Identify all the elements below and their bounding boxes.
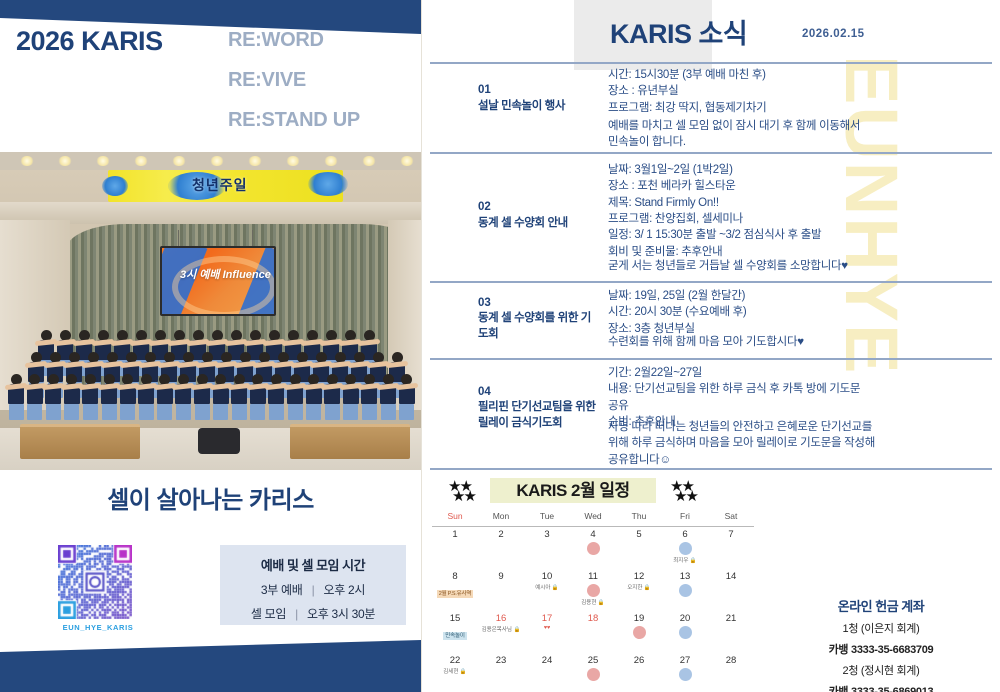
item-body: 날짜: 3월1일~2일 (1박2일) 장소 : 포천 베라카 힐스타운 제목: … <box>608 162 980 260</box>
calendar-day-cell[interactable]: 23 <box>478 653 524 692</box>
screen-text: 3시 예배 Influence <box>180 266 271 282</box>
service-time-sep: | <box>312 583 315 597</box>
calendar-day-cell[interactable]: 82월 P.S.유사역 <box>432 569 478 611</box>
calendar-day-number: 12 <box>617 572 661 582</box>
ceiling-light-icon <box>172 156 186 166</box>
calendar-grid: SunMonTueWedThuFriSat 123456최지우 🔒782월 P.… <box>432 508 754 692</box>
photo-person <box>138 374 154 420</box>
photo-person <box>175 374 191 420</box>
calendar-day-cell[interactable]: 9 <box>478 569 524 611</box>
calendar-body: 123456최지우 🔒782월 P.S.유사역910예시아 🔒11김용현 🔒12… <box>432 527 754 692</box>
calendar-day-cell[interactable]: 28 <box>708 653 754 692</box>
item-title: 설날 민속놀이 행사 <box>478 99 598 115</box>
calendar-weekday-wed: Wed <box>570 508 616 527</box>
ceiling-light-icon <box>210 156 224 166</box>
item-title: 필리핀 단기선교팀을 위한 릴레이 금식기도회 <box>478 400 598 431</box>
item-number: 02 <box>478 201 491 213</box>
ceiling-light-icon <box>20 156 34 166</box>
calendar-day-cell[interactable]: 11김용현 🔒 <box>570 569 616 611</box>
calendar-day-number: 18 <box>571 614 615 624</box>
calendar-weekday-thu: Thu <box>616 508 662 527</box>
calendar-day-number: 17 <box>525 614 569 624</box>
calendar-day-number: 9 <box>479 572 523 582</box>
account-line-1: 카뱅 3333-35-6683709 <box>762 641 1000 657</box>
calendar-day-cell[interactable]: 1 <box>432 527 478 570</box>
qr-label: EUN_HYE_KARIS <box>58 623 138 632</box>
calendar-day-name: 김용은목사님 🔒 <box>479 625 523 633</box>
account-title: 온라인 헌금 계좌 <box>762 596 1000 615</box>
photo-person <box>101 374 117 420</box>
photo-person <box>361 374 377 420</box>
photo-person <box>250 374 266 420</box>
service-time-label: 3부 예배 <box>261 583 303 597</box>
service-time-row: 3부 예배 | 오후 2시 <box>220 581 406 598</box>
account-line-2: 2청 (정시현 회계) <box>762 662 1000 678</box>
item-body: 날짜: 19일, 25일 (2월 한달간) 시간: 20시 30분 (수요예배 … <box>608 288 980 337</box>
divider-line <box>430 281 992 283</box>
calendar-day-cell[interactable]: 4 <box>570 527 616 570</box>
calendar-day-number: 11 <box>571 572 615 582</box>
item-note: 예배를 마치고 셀 모임 없이 잠시 대기 후 함께 이동해서 민속놀이 합니다… <box>608 118 980 151</box>
calendar-week-row: 22김세현 🔒232425262728 <box>432 653 754 692</box>
qr-code[interactable] <box>58 545 132 619</box>
calendar-day-number: 15 <box>433 614 477 624</box>
calendar-dot-blue-icon <box>679 584 692 597</box>
screen-ring <box>172 256 276 316</box>
photo-person <box>231 374 247 420</box>
donation-account-block: 온라인 헌금 계좌 1청 (이은지 회계) 카뱅 3333-35-6683709… <box>762 596 1000 692</box>
banner-blob <box>102 176 128 196</box>
calendar-day-cell[interactable]: 26 <box>616 653 662 692</box>
calendar-day-cell[interactable]: 24 <box>524 653 570 692</box>
photo-person <box>380 374 396 420</box>
calendar-day-cell[interactable]: 14 <box>708 569 754 611</box>
calendar-title: KARIS 2월 일정 <box>490 478 656 503</box>
calendar-dot-blue-icon <box>679 668 692 681</box>
photo-person <box>287 374 303 420</box>
photo-bag <box>198 428 240 454</box>
calendar-dot-pink-icon <box>587 668 600 681</box>
calendar-day-number: 21 <box>709 614 753 624</box>
calendar-day-name: 김용현 🔒 <box>571 598 615 606</box>
photo-person <box>194 374 210 420</box>
calendar-day-number: 20 <box>663 614 707 624</box>
re-slogan-1: RE:VIVE <box>228 70 360 90</box>
calendar-dot-pink-icon <box>587 542 600 555</box>
photo-person <box>213 374 229 420</box>
calendar-week-row: 123456최지우 🔒7 <box>432 527 754 570</box>
item-title: 동계 셀 수양회 안내 <box>478 216 598 232</box>
calendar-day-cell[interactable]: 15민속놀이 <box>432 611 478 653</box>
account-line-3: 카뱅 3333-35-6869013 <box>762 683 1000 692</box>
calendar-day-number: 27 <box>663 656 707 666</box>
calendar-day-cell[interactable]: 20 <box>662 611 708 653</box>
item-number: 04 <box>478 386 491 398</box>
calendar-day-name: 오지한 🔒 <box>617 583 661 591</box>
calendar-day-number: 13 <box>663 572 707 582</box>
calendar-day-number: 19 <box>617 614 661 624</box>
star-decoration-left-icon: ★★★★ <box>448 480 475 503</box>
news-date: 2026.02.15 <box>802 28 865 40</box>
divider-line <box>430 468 992 470</box>
ceiling-light-icon <box>362 156 376 166</box>
photo-pew-right <box>290 424 410 459</box>
item-note: 사명 따라 떠나는 청년들의 안전하고 은혜로운 단기선교를 위해 하루 금식하… <box>608 419 980 468</box>
ceiling-light-icon <box>134 156 148 166</box>
divider-line <box>430 358 992 360</box>
calendar-day-number: 2 <box>479 530 523 540</box>
tagline: 셀이 살아나는 카리스 <box>0 480 421 515</box>
calendar-dot-blue-icon <box>679 542 692 555</box>
photo-person <box>306 374 322 420</box>
calendar-dot-blue-icon <box>679 626 692 639</box>
calendar-weekday-sun: Sun <box>432 508 478 527</box>
calendar-day-number: 10 <box>525 572 569 582</box>
calendar-week-row: 82월 P.S.유사역910예시아 🔒11김용현 🔒12오지한 🔒1314 <box>432 569 754 611</box>
news-title: KARIS 소식 <box>610 12 747 51</box>
banner-blob <box>308 172 348 196</box>
photo-ceiling-lights <box>0 156 421 168</box>
calendar-day-cell[interactable]: 27 <box>662 653 708 692</box>
service-time-sep: | <box>295 607 298 621</box>
calendar-weekday-sat: Sat <box>708 508 754 527</box>
ceiling-light-icon <box>96 156 110 166</box>
calendar-day-number: 3 <box>525 530 569 540</box>
calendar-day-cell[interactable]: 7 <box>708 527 754 570</box>
calendar-day-number: 4 <box>571 530 615 540</box>
calendar-day-cell[interactable]: 18 <box>570 611 616 653</box>
photo-person <box>399 374 415 420</box>
photo-person <box>82 374 98 420</box>
service-time-value: 오후 2시 <box>323 583 365 597</box>
calendar-day-number: 26 <box>617 656 661 666</box>
item-note: 굳게 서는 청년들로 거듭날 셀 수양회를 소망합니다♥ <box>608 258 980 274</box>
calendar-day-cell[interactable]: 13 <box>662 569 708 611</box>
ceiling-light-icon <box>400 156 414 166</box>
ceiling-light-icon <box>286 156 300 166</box>
photo-person <box>324 374 340 420</box>
star-decoration-right-icon: ★★★★ <box>670 480 697 503</box>
calendar-day-number: 23 <box>479 656 523 666</box>
ceiling-light-icon <box>324 156 338 166</box>
calendar-day-tag: ♥♥ <box>525 625 569 631</box>
right-panel: EUNHYE KARIS 소식 2026.02.15 01 설날 민속놀이 행사… <box>422 0 1000 692</box>
calendar-day-cell[interactable]: 25 <box>570 653 616 692</box>
calendar-week-row: 15민속놀이16김용은목사님 🔒17♥♥18192021 <box>432 611 754 653</box>
photo-person <box>27 374 43 420</box>
calendar-day-number: 16 <box>479 614 523 624</box>
photo-person <box>343 374 359 420</box>
photo-banner: 청년주일 <box>108 170 343 202</box>
calendar-header: ★★★★ KARIS 2월 일정 ★★★★ <box>432 478 754 506</box>
photo-person <box>268 374 284 420</box>
photo-person <box>45 374 61 420</box>
calendar-day-cell[interactable]: 3 <box>524 527 570 570</box>
re-slogan-list: RE:WORD RE:VIVE RE:STAND UP <box>228 30 360 150</box>
calendar-day-name: 김세현 🔒 <box>433 667 477 675</box>
brand-title: 2026 KARIS <box>16 26 163 57</box>
calendar-day-cell[interactable]: 2 <box>478 527 524 570</box>
flyer-page: 2026 KARIS RE:WORD RE:VIVE RE:STAND UP 청… <box>0 0 1000 692</box>
calendar-dot-pink-icon <box>587 584 600 597</box>
calendar-day-cell[interactable]: 22김세현 🔒 <box>432 653 478 692</box>
navy-bottom-bar <box>0 655 400 692</box>
service-time-box: 예배 및 셀 모임 시간 3부 예배 | 오후 2시 셀 모임 | 오후 3시 … <box>220 545 406 625</box>
calendar-day-cell[interactable]: 10예시아 🔒 <box>524 569 570 611</box>
calendar: ★★★★ KARIS 2월 일정 ★★★★ SunMonTueWedThuFri… <box>432 478 754 692</box>
service-time-row: 셀 모임 | 오후 3시 30분 <box>220 605 406 622</box>
photo-person <box>8 374 24 420</box>
calendar-day-number: 25 <box>571 656 615 666</box>
calendar-day-name: 예시아 🔒 <box>525 583 569 591</box>
calendar-day-number: 8 <box>433 572 477 582</box>
item-body: 시간: 15시30분 (3부 예배 마친 후) 장소 : 유년부실 프로그램: … <box>608 67 980 116</box>
divider-line <box>430 152 992 154</box>
calendar-weekday-mon: Mon <box>478 508 524 527</box>
calendar-day-cell[interactable]: 5 <box>616 527 662 570</box>
service-time-value: 오후 3시 30분 <box>307 607 375 621</box>
calendar-day-cell[interactable]: 12오지한 🔒 <box>616 569 662 611</box>
calendar-day-number: 6 <box>663 530 707 540</box>
calendar-day-cell[interactable]: 17♥♥ <box>524 611 570 653</box>
divider-line <box>430 62 992 64</box>
calendar-dot-pink-icon <box>633 626 646 639</box>
ceiling-light-icon <box>58 156 72 166</box>
item-title: 동계 셀 수양회를 위한 기도회 <box>478 311 598 342</box>
account-line-0: 1청 (이은지 회계) <box>762 620 1000 636</box>
calendar-day-number: 24 <box>525 656 569 666</box>
item-number: 01 <box>478 84 491 96</box>
group-photo: 청년주일 3시 예배 Influence <box>0 152 421 470</box>
service-time-title: 예배 및 셀 모임 시간 <box>220 555 406 574</box>
photo-person <box>120 374 136 420</box>
calendar-weekday-tue: Tue <box>524 508 570 527</box>
calendar-day-tag: 민속놀이 <box>443 632 466 640</box>
calendar-day-number: 1 <box>433 530 477 540</box>
calendar-weekday-row: SunMonTueWedThuFriSat <box>432 508 754 527</box>
calendar-day-cell[interactable]: 19 <box>616 611 662 653</box>
calendar-day-number: 14 <box>709 572 753 582</box>
re-slogan-2: RE:STAND UP <box>228 110 360 130</box>
item-number: 03 <box>478 297 491 309</box>
photo-person <box>157 374 173 420</box>
banner-text: 청년주일 <box>192 175 248 195</box>
calendar-day-cell[interactable]: 6최지우 🔒 <box>662 527 708 570</box>
calendar-day-number: 5 <box>617 530 661 540</box>
service-time-label: 셀 모임 <box>251 607 286 621</box>
qr-block[interactable]: EUN_HYE_KARIS <box>58 545 138 632</box>
item-note: 수련회를 위해 함께 마음 모아 기도합시다♥ <box>608 334 980 350</box>
photo-person <box>64 374 80 420</box>
calendar-day-tag: 2월 P.S.유사역 <box>437 590 474 598</box>
ceiling-light-icon <box>248 156 262 166</box>
calendar-day-number: 22 <box>433 656 477 666</box>
calendar-day-cell[interactable]: 21 <box>708 611 754 653</box>
calendar-weekday-fri: Fri <box>662 508 708 527</box>
re-slogan-0: RE:WORD <box>228 30 360 50</box>
left-panel: 2026 KARIS RE:WORD RE:VIVE RE:STAND UP 청… <box>0 0 421 692</box>
calendar-day-number: 7 <box>709 530 753 540</box>
calendar-day-number: 28 <box>709 656 753 666</box>
photo-led-screen: 3시 예배 Influence <box>160 246 276 316</box>
calendar-day-cell[interactable]: 16김용은목사님 🔒 <box>478 611 524 653</box>
photo-pew-left <box>20 424 140 459</box>
calendar-day-name: 최지우 🔒 <box>663 556 707 564</box>
